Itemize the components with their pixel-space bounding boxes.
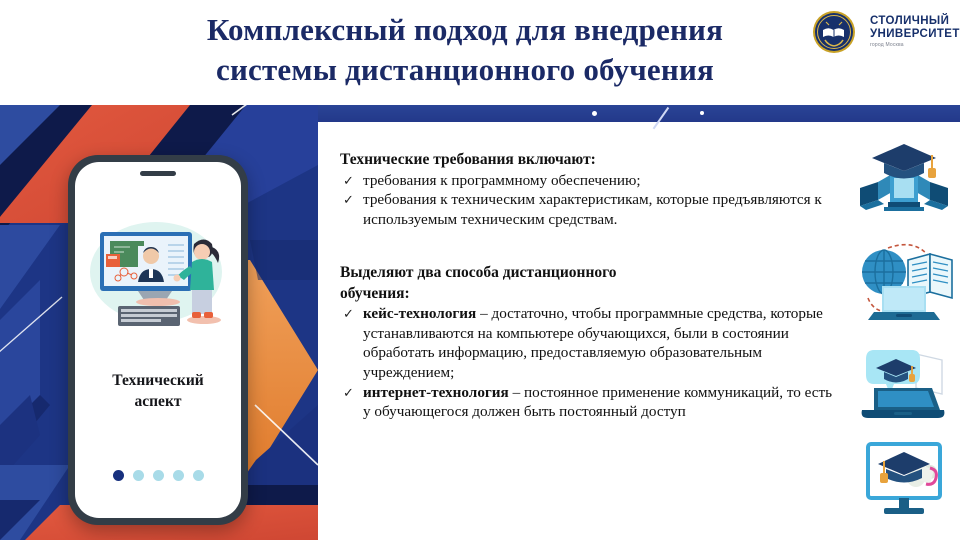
open-book-laurel-seal-icon — [812, 10, 856, 54]
list-item-term: кейс-технология — [363, 305, 476, 322]
block2-list: ✓ кейс-технология – достаточно, чтобы пр… — [340, 304, 840, 422]
band-dot-icon — [592, 111, 597, 116]
list-item: ✓ требования к программному обеспечению; — [340, 171, 840, 191]
title-line-1: Комплексный подход для внедрения — [207, 12, 723, 47]
monitor-cap-diploma-icon — [854, 432, 954, 528]
block1-list: ✓ требования к программному обеспечению;… — [340, 171, 840, 230]
list-item-text: требования к техническим характеристикам… — [363, 191, 822, 228]
block2-heading-line-1: Выделяют два способа дистанционного — [340, 263, 840, 283]
logo-line-1: СТОЛИЧНЫЙ — [870, 15, 960, 28]
title-line-2: системы дистанционного обучения — [100, 50, 830, 90]
logo-wordmark: СТОЛИЧНЫЙ УНИВЕРСИТЕТ город Москва — [870, 15, 960, 49]
carousel-dot-2[interactable] — [133, 470, 144, 481]
list-item: ✓ кейс-технология – достаточно, чтобы пр… — [340, 304, 840, 382]
phone-caption: Технический аспект — [75, 370, 241, 412]
illustration-icon-column — [854, 132, 954, 532]
phone-screen: Технический аспект — [75, 162, 241, 518]
page-title: Комплексный подход для внедрения системы… — [100, 10, 830, 90]
list-item: ✓ требования к техническим характеристик… — [340, 190, 840, 229]
content-spacer — [340, 229, 840, 263]
carousel-dot-5[interactable] — [193, 470, 204, 481]
list-item-text: требования к программному обеспечению; — [363, 172, 641, 189]
phone-mockup: Технический аспект — [68, 155, 248, 525]
university-logo: СТОЛИЧНЫЙ УНИВЕРСИТЕТ город Москва — [812, 8, 952, 56]
slide-header: Комплексный подход для внедрения системы… — [0, 0, 960, 105]
block2-heading-line-2: обучения: — [340, 284, 840, 304]
band-slash-icon — [653, 107, 669, 129]
carousel-dot-1[interactable] — [113, 470, 124, 481]
check-icon: ✓ — [343, 384, 354, 404]
phone-caption-line-1: Технический — [112, 372, 203, 389]
laptop-speech-bubble-cap-icon — [854, 332, 954, 428]
list-item: ✓ интернет-технология – постоянное приме… — [340, 383, 840, 422]
main-content: Технические требования включают: ✓ требо… — [340, 150, 840, 422]
band-dot-icon — [700, 111, 704, 115]
block1-heading: Технические требования включают: — [340, 150, 840, 170]
slide-root: Комплексный подход для внедрения системы… — [0, 0, 960, 540]
check-icon: ✓ — [343, 191, 354, 211]
graduation-cap-laptops-icon — [854, 132, 954, 228]
list-item-term: интернет-технология — [363, 384, 509, 401]
carousel-dot-4[interactable] — [173, 470, 184, 481]
check-icon: ✓ — [343, 305, 354, 325]
carousel-dot-3[interactable] — [153, 470, 164, 481]
logo-line-3: город Москва — [870, 41, 960, 49]
phone-caption-line-2: аспект — [135, 393, 182, 410]
online-lesson-desktop-teacher-icon — [86, 214, 231, 332]
check-icon: ✓ — [343, 172, 354, 192]
globe-book-laptop-icon — [854, 232, 954, 328]
logo-line-2: УНИВЕРСИТЕТ — [870, 28, 960, 41]
phone-notch-icon — [140, 171, 176, 176]
carousel-dots[interactable] — [75, 470, 241, 481]
